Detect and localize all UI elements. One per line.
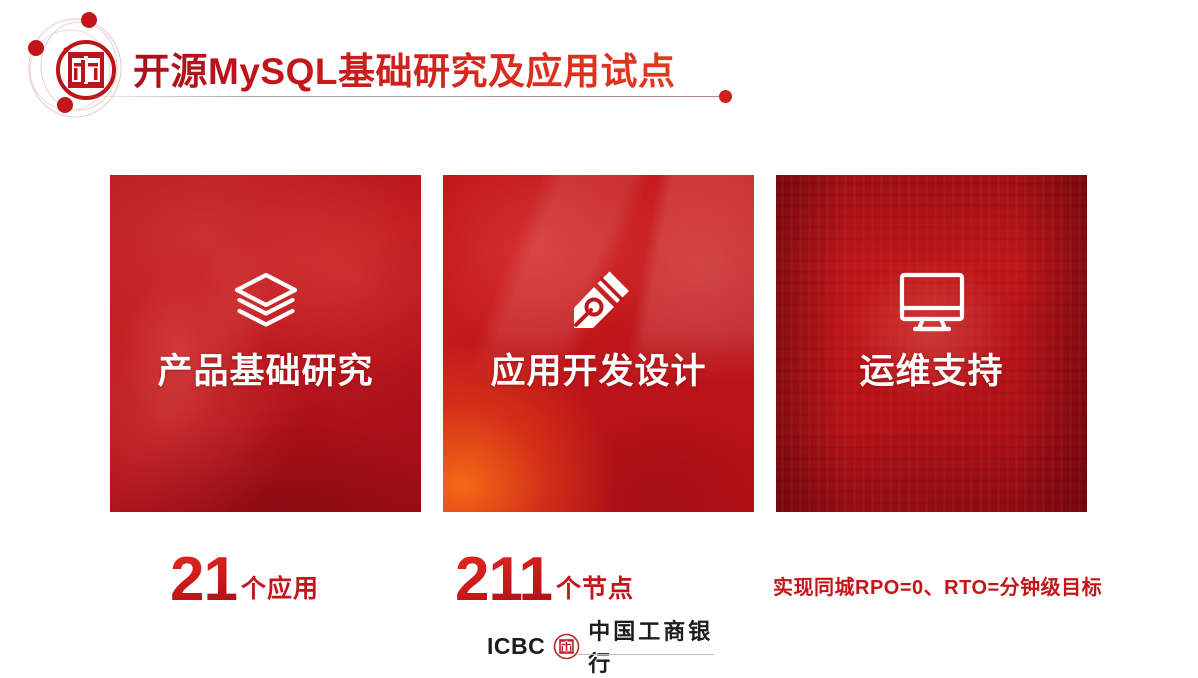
card-product-research[interactable]: 产品基础研究 bbox=[110, 175, 421, 512]
monitor-display-icon bbox=[893, 263, 971, 341]
stats-row: 21 个应用 211 个节点 实现同城RPO=0、RTO=分钟级目标 bbox=[110, 545, 1110, 615]
title-underline bbox=[88, 96, 726, 97]
stat-note: 实现同城RPO=0、RTO=分钟级目标 bbox=[773, 571, 1102, 600]
brand-underline bbox=[577, 654, 714, 655]
brand-latin-name: ICBC bbox=[487, 633, 545, 660]
stat-note-text: 实现同城RPO=0、RTO=分钟级目标 bbox=[773, 571, 1102, 600]
stat-nodes: 211 个节点 bbox=[455, 551, 634, 608]
title-underline-dot bbox=[719, 90, 732, 103]
card-title: 运维支持 bbox=[859, 353, 1003, 392]
card-title: 产品基础研究 bbox=[157, 353, 373, 392]
card-title: 应用开发设计 bbox=[490, 353, 706, 392]
card-app-development[interactable]: 应用开发设计 bbox=[443, 175, 754, 512]
card-row: 产品基础研究 应用开发设计 bbox=[110, 175, 1088, 512]
card-ops-support[interactable]: 运维支持 bbox=[776, 175, 1087, 512]
stat-number: 211 bbox=[455, 551, 552, 608]
icbc-emblem-icon bbox=[18, 8, 138, 126]
brand-logo: ICBC 中国工商银行 bbox=[487, 626, 717, 666]
icbc-emblem-icon bbox=[553, 633, 580, 660]
stat-applications: 21 个应用 bbox=[170, 551, 319, 608]
slide-header: 开源MySQL基础研究及应用试点 bbox=[0, 0, 1198, 130]
pen-nib-icon bbox=[560, 263, 638, 341]
stat-number: 21 bbox=[170, 551, 237, 608]
layers-stack-icon bbox=[227, 263, 305, 341]
stat-unit: 个节点 bbox=[556, 569, 634, 605]
brand-chinese-name: 中国工商银行 bbox=[588, 614, 717, 678]
stat-unit: 个应用 bbox=[241, 569, 319, 605]
page-title: 开源MySQL基础研究及应用试点 bbox=[133, 41, 675, 95]
